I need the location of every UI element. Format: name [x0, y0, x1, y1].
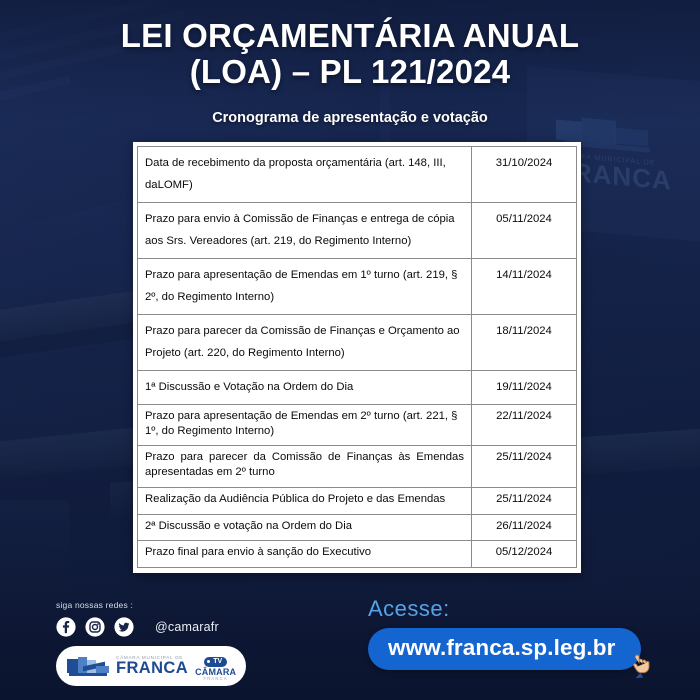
- schedule-date-cell: 19/11/2024: [472, 371, 577, 405]
- url-wrapper: www.franca.sp.leg.br: [368, 628, 641, 670]
- schedule-date-cell: 26/11/2024: [472, 514, 577, 541]
- schedule-card: Data de recebimento da proposta orçament…: [133, 142, 581, 573]
- schedule-description-cell: Prazo para apresentação de Emendas em 1º…: [138, 259, 472, 315]
- schedule-date-cell: 14/11/2024: [472, 259, 577, 315]
- camara-logo-big-text: FRANCA: [116, 660, 188, 677]
- schedule-description-cell: Realização da Audiência Pública do Proje…: [138, 487, 472, 514]
- access-label: Acesse:: [368, 596, 641, 622]
- schedule-date-cell: 22/11/2024: [472, 405, 577, 446]
- table-row: Data de recebimento da proposta orçament…: [138, 147, 577, 203]
- schedule-description-cell: Data de recebimento da proposta orçament…: [138, 147, 472, 203]
- schedule-date-cell: 05/11/2024: [472, 203, 577, 259]
- poster: CÂMARA MUNICIPAL DE FRANCA LEI ORÇAMENTÁ…: [0, 0, 700, 700]
- page-title-line-2: (LOA) – PL 121/2024: [26, 54, 674, 90]
- schedule-description-cell: Prazo para apresentação de Emendas em 2º…: [138, 405, 472, 446]
- table-row: Prazo para envio à Comissão de Finanças …: [138, 203, 577, 259]
- pointing-hand-cursor-icon: [625, 646, 659, 680]
- table-row: Prazo para parecer da Comissão de Finanç…: [138, 315, 577, 371]
- facebook-icon[interactable]: [56, 617, 76, 637]
- social-handle: @camarafr: [155, 620, 219, 634]
- page-title-line-1: LEI ORÇAMENTÁRIA ANUAL: [26, 18, 674, 54]
- table-row: 2ª Discussão e votação na Ordem do Dia26…: [138, 514, 577, 541]
- table-row: Prazo para apresentação de Emendas em 1º…: [138, 259, 577, 315]
- schedule-date-cell: 25/11/2024: [472, 446, 577, 487]
- camara-franca-logo: CÂMARA MUNICIPAL DE FRANCA TV CÂMARA FRA…: [56, 646, 246, 686]
- tv-camara-logo: TV CÂMARA FRANCA: [195, 651, 236, 681]
- table-row: Prazo para parecer da Comissão de Finanç…: [138, 446, 577, 487]
- follow-label: siga nossas redes :: [56, 600, 246, 610]
- social-icons-row: @camarafr: [56, 617, 246, 637]
- page-title: LEI ORÇAMENTÁRIA ANUAL (LOA) – PL 121/20…: [0, 18, 700, 90]
- camara-logo-mark: [67, 655, 109, 677]
- table-row: Prazo final para envio à sanção do Execu…: [138, 541, 577, 568]
- camara-logo-text: CÂMARA MUNICIPAL DE FRANCA: [116, 656, 188, 677]
- schedule-description-cell: Prazo para envio à Comissão de Finanças …: [138, 203, 472, 259]
- schedule-description-cell: 2ª Discussão e votação na Ordem do Dia: [138, 514, 472, 541]
- schedule-date-cell: 18/11/2024: [472, 315, 577, 371]
- schedule-table: Data de recebimento da proposta orçament…: [137, 146, 577, 568]
- table-row: 1ª Discussão e Votação na Ordem do Dia19…: [138, 371, 577, 405]
- footer-website-block: Acesse: www.franca.sp.leg.br: [368, 596, 641, 670]
- schedule-description-cell: Prazo para parecer da Comissão de Finanç…: [138, 315, 472, 371]
- instagram-icon[interactable]: [85, 617, 105, 637]
- table-row: Prazo para apresentação de Emendas em 2º…: [138, 405, 577, 446]
- header: LEI ORÇAMENTÁRIA ANUAL (LOA) – PL 121/20…: [0, 18, 700, 126]
- tv-badge: TV: [204, 657, 227, 667]
- page-subtitle: Cronograma de apresentação e votação: [0, 110, 700, 126]
- schedule-description-cell: Prazo final para envio à sanção do Execu…: [138, 541, 472, 568]
- twitter-icon[interactable]: [114, 617, 134, 637]
- schedule-description-cell: 1ª Discussão e Votação na Ordem do Dia: [138, 371, 472, 405]
- footer-social-block: siga nossas redes : @camarafr: [56, 600, 246, 686]
- tv-camara-sub: FRANCA: [195, 677, 236, 681]
- website-url-button[interactable]: www.franca.sp.leg.br: [368, 628, 641, 670]
- schedule-date-cell: 25/11/2024: [472, 487, 577, 514]
- table-row: Realização da Audiência Pública do Proje…: [138, 487, 577, 514]
- schedule-date-cell: 05/12/2024: [472, 541, 577, 568]
- schedule-date-cell: 31/10/2024: [472, 147, 577, 203]
- schedule-table-body: Data de recebimento da proposta orçament…: [138, 147, 577, 568]
- schedule-description-cell: Prazo para parecer da Comissão de Finanç…: [138, 446, 472, 487]
